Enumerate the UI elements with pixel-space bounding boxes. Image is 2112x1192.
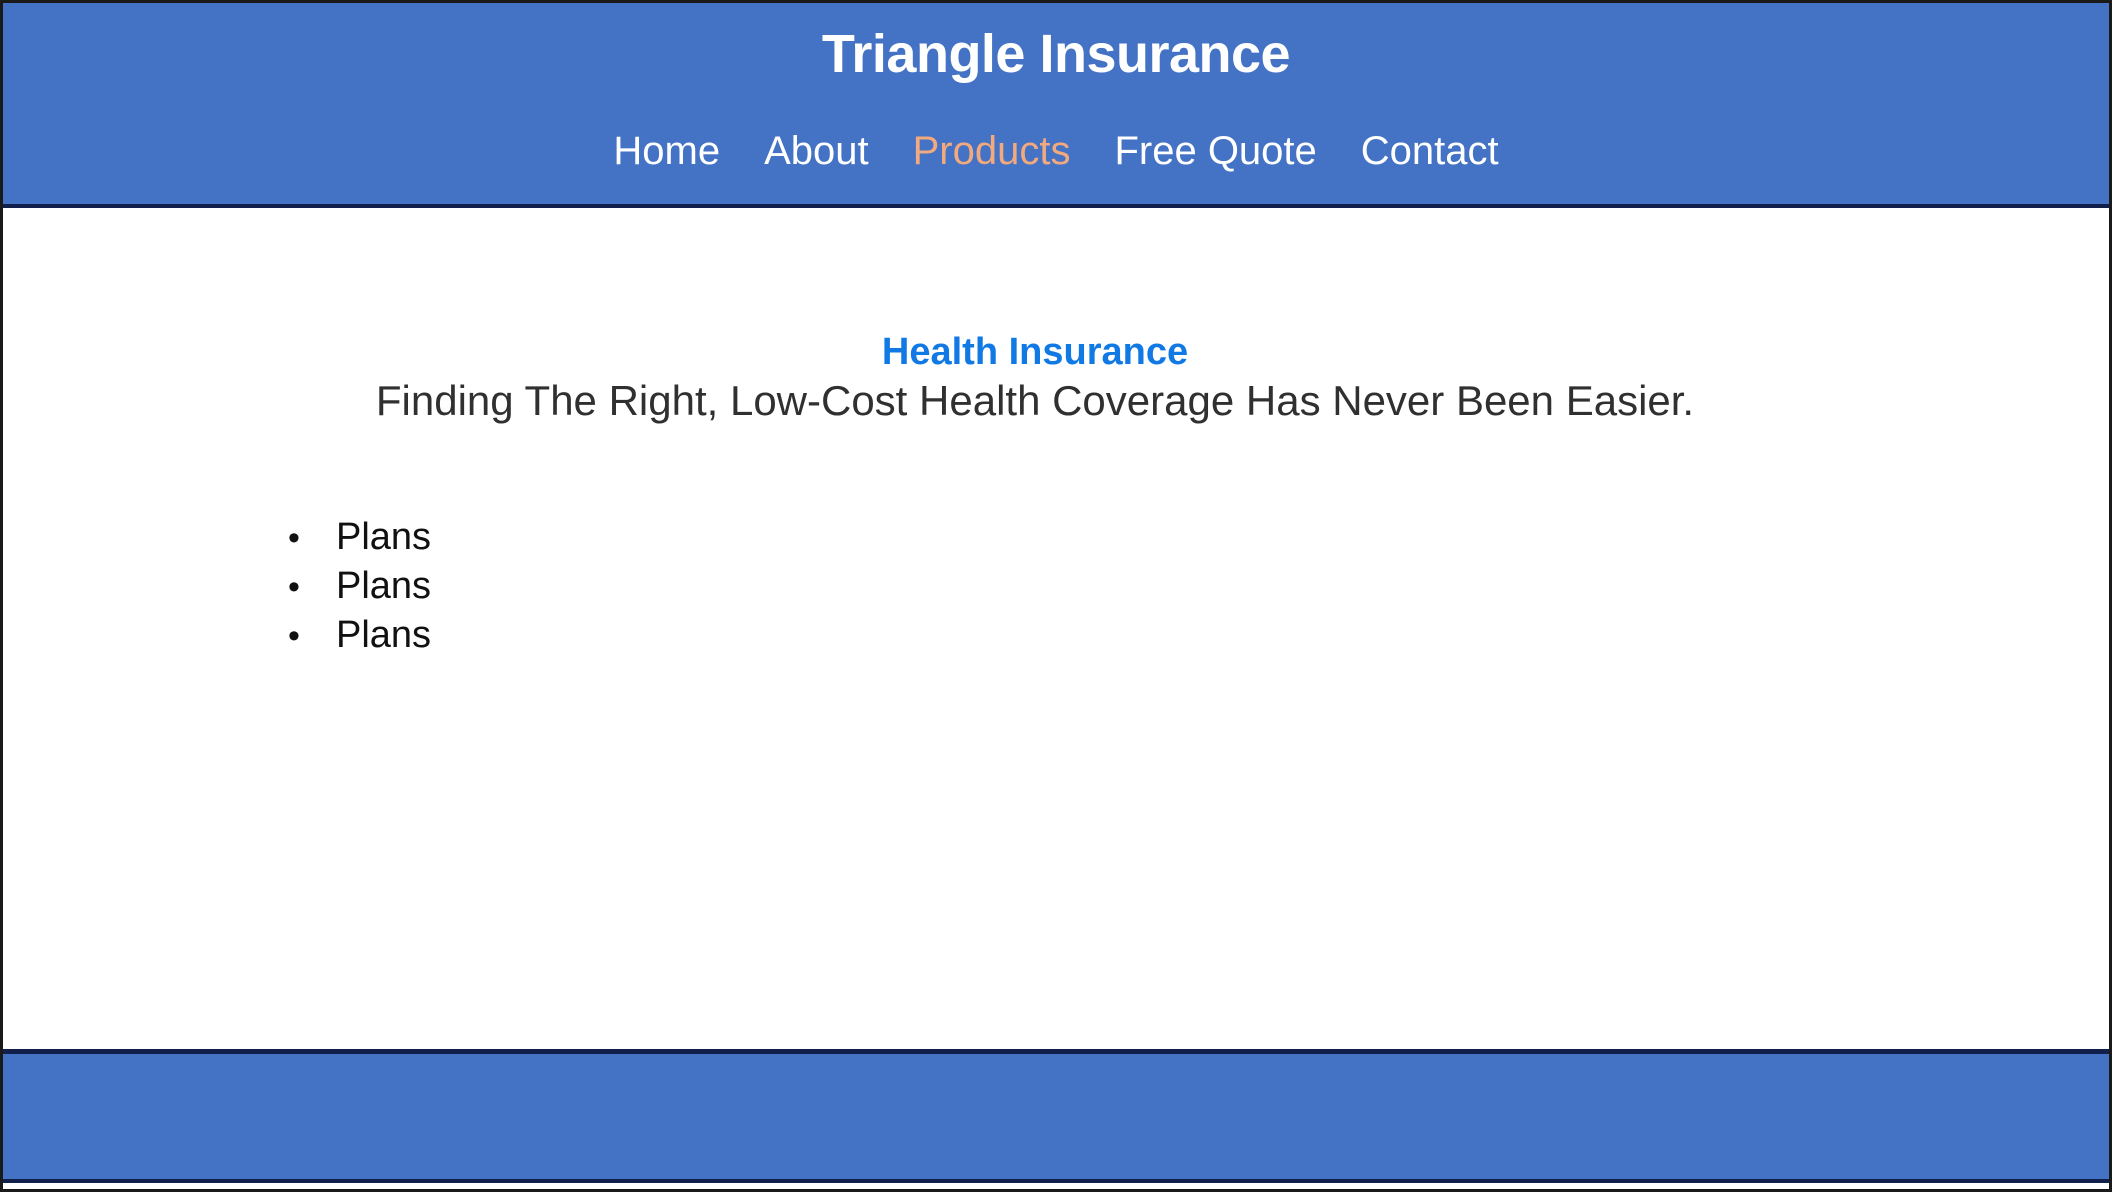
site-title: Triangle Insurance [3, 27, 2109, 81]
bullet-icon: • [288, 514, 336, 563]
page-title: Health Insurance [3, 333, 2067, 371]
nav-item-products[interactable]: Products [891, 131, 1093, 171]
list-item[interactable]: • Plans [288, 562, 431, 611]
bullet-icon: • [288, 612, 336, 661]
site-header: Triangle Insurance Home About Products F… [3, 3, 2109, 208]
nav-item-about[interactable]: About [742, 131, 891, 171]
nav-item-contact[interactable]: Contact [1339, 131, 1521, 171]
site-footer [3, 1049, 2109, 1183]
list-item-label: Plans [336, 562, 431, 611]
plans-list: • Plans • Plans • Plans [288, 513, 431, 660]
main-navigation: Home About Products Free Quote Contact [3, 131, 2109, 171]
nav-item-free-quote[interactable]: Free Quote [1092, 131, 1338, 171]
main-content: Health Insurance Finding The Right, Low-… [3, 208, 2109, 1053]
nav-item-home[interactable]: Home [591, 131, 742, 171]
page-root: Triangle Insurance Home About Products F… [0, 0, 2112, 1192]
bullet-icon: • [288, 563, 336, 612]
page-subtitle: Finding The Right, Low-Cost Health Cover… [3, 380, 2067, 422]
list-item[interactable]: • Plans [288, 611, 431, 660]
list-item-label: Plans [336, 611, 431, 660]
list-item-label: Plans [336, 513, 431, 562]
list-item[interactable]: • Plans [288, 513, 431, 562]
